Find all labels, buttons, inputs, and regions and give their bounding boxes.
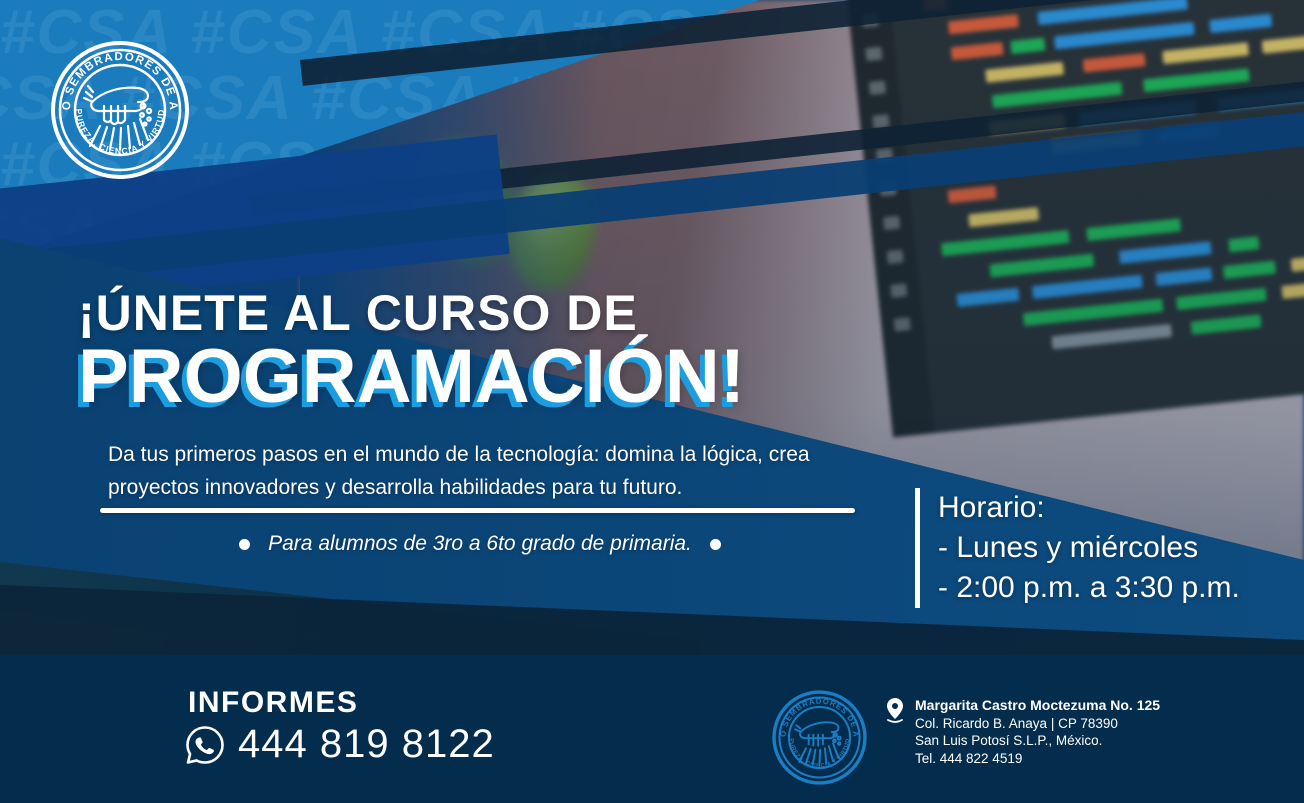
schedule-block: Horario: - Lunes y miércoles - 2:00 p.m.… — [915, 488, 1240, 608]
address-line-4: Tel. 444 822 4519 — [915, 750, 1160, 768]
headline-line-1: ¡ÚNETE AL CURSO DE — [78, 286, 745, 340]
body-paragraph: Da tus primeros pasos en el mundo de la … — [108, 438, 868, 504]
bullet-dot-icon — [710, 539, 721, 550]
whatsapp-icon[interactable] — [184, 724, 226, 766]
schedule-time: - 2:00 p.m. a 3:30 p.m. — [938, 568, 1240, 608]
whatsapp-contact[interactable]: 444 819 8122 — [184, 722, 495, 767]
headline-group: ¡ÚNETE AL CURSO DE PROGRAMACIÓN! — [78, 286, 745, 418]
address-line-3: San Luis Potosí S.L.P., México. — [915, 732, 1160, 750]
informes-label: INFORMES — [188, 686, 358, 720]
address-block: Margarita Castro Moctezuma No. 125 Col. … — [915, 697, 1160, 767]
school-logo-seal: COLEGIO SEMBRADORES DE AMISTAD PUREZA, C… — [50, 40, 190, 180]
audience-line: Para alumnos de 3ro a 6to grado de prima… — [100, 532, 860, 556]
audience-text: Para alumnos de 3ro a 6to grado de prima… — [268, 532, 692, 556]
schedule-day: - Lunes y miércoles — [938, 528, 1240, 568]
logo-outer-text: COLEGIO SEMBRADORES DE AMISTAD — [772, 690, 861, 738]
location-pin-icon — [884, 697, 906, 727]
address-line-2: Col. Ricardo B. Anaya | CP 78390 — [915, 715, 1160, 733]
hand-sowing-seeds-icon — [795, 722, 841, 764]
schedule-title: Horario: — [938, 488, 1240, 528]
headline-line-2: PROGRAMACIÓN! — [78, 336, 745, 418]
address-line-1: Margarita Castro Moctezuma No. 125 — [915, 697, 1160, 715]
divider-rule — [100, 508, 855, 513]
bullet-dot-icon — [239, 539, 250, 550]
school-logo-seal-footer: COLEGIO SEMBRADORES DE AMISTAD PUREZA, C… — [772, 690, 867, 785]
whatsapp-phone-number[interactable]: 444 819 8122 — [238, 722, 495, 767]
svg-text:COLEGIO SEMBRADORES DE AMISTAD: COLEGIO SEMBRADORES DE AMISTAD — [772, 690, 861, 738]
poster-canvas: #CSA #CSA #CSA #CSA #CSA #CSA#CSA #CSA #… — [0, 0, 1304, 803]
